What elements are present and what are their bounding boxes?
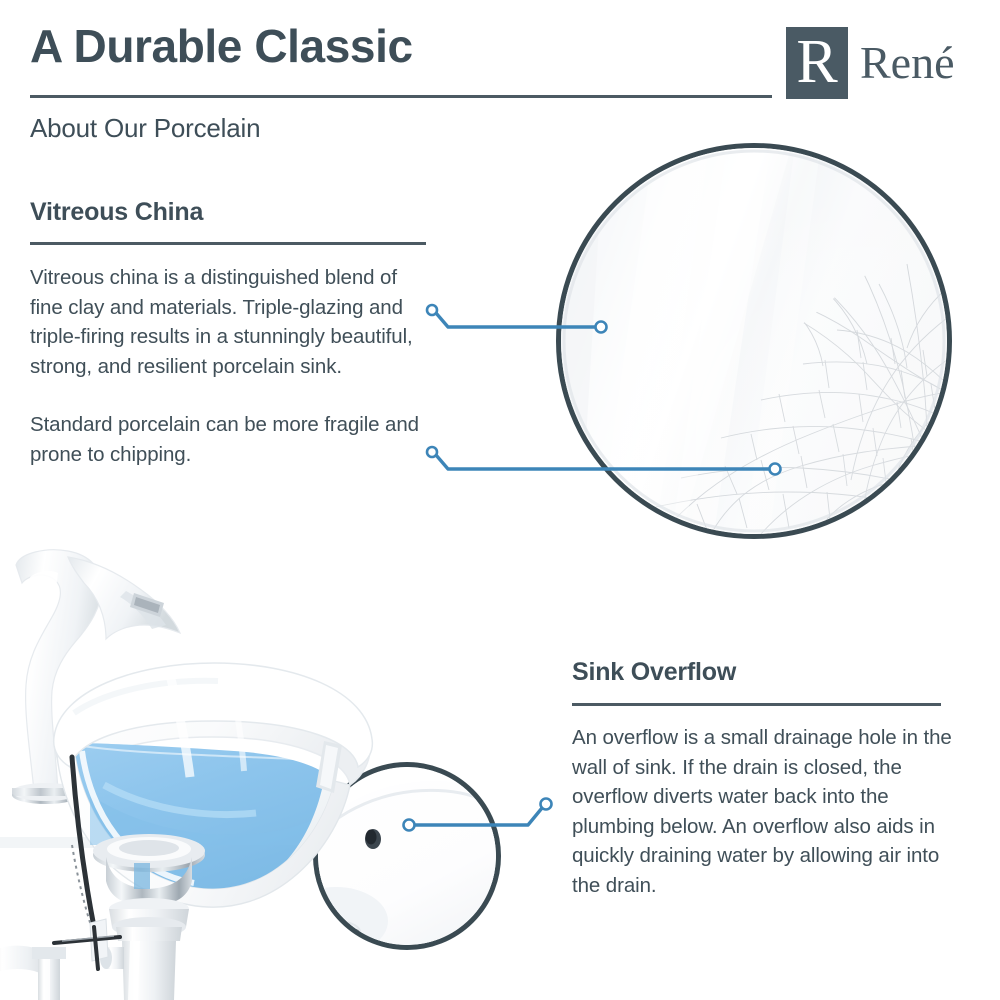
drain-assembly	[93, 834, 205, 1000]
logo-wordmark: René	[860, 40, 955, 86]
paragraph: Standard porcelain can be more fragile a…	[30, 410, 430, 469]
porcelain-surface-graphic	[561, 148, 947, 534]
brand-logo: R René	[786, 27, 955, 99]
trap-pipe	[0, 944, 66, 1000]
section-body-sink-overflow: An overflow is a small drainage hole in …	[572, 723, 952, 900]
paragraph: Vitreous china is a distinguished blend …	[30, 263, 430, 381]
page-title: A Durable Classic	[30, 22, 413, 70]
porcelain-surface-closeup-image	[556, 143, 952, 539]
infographic-page: A Durable Classic About Our Porcelain R …	[0, 0, 1000, 1000]
section-body-vitreous-china: Vitreous china is a distinguished blend …	[30, 263, 430, 469]
section-heading-sink-overflow: Sink Overflow	[572, 658, 736, 687]
logo-mark-square: R	[786, 27, 848, 99]
sink-cutaway-graphic	[0, 545, 414, 1000]
paragraph: An overflow is a small drainage hole in …	[572, 723, 952, 900]
logo-letter-r: R	[786, 31, 848, 93]
section-divider-sink-overflow	[572, 703, 941, 706]
section-divider-vitreous-china	[30, 242, 426, 245]
sink-bowl	[54, 663, 373, 907]
section-heading-vitreous-china: Vitreous China	[30, 198, 203, 227]
header-divider	[30, 95, 772, 98]
page-subtitle: About Our Porcelain	[30, 113, 260, 144]
sink-cutaway-illustration	[0, 545, 414, 1000]
